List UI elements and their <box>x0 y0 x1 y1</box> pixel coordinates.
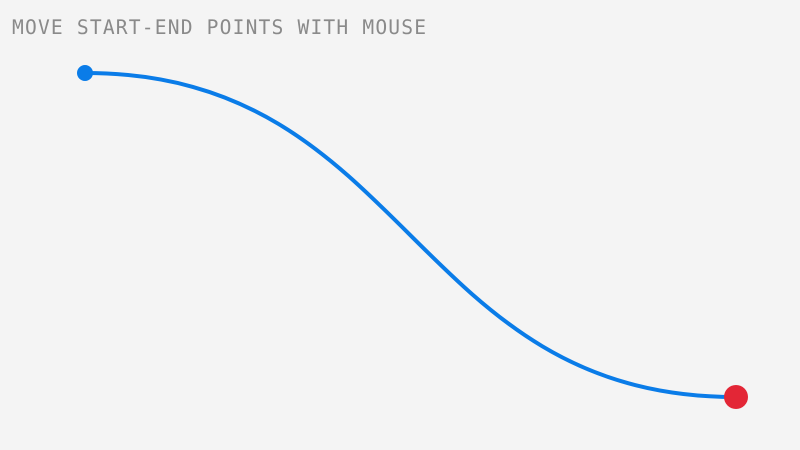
start-point-handle[interactable] <box>77 65 93 81</box>
bezier-curve-path[interactable] <box>85 73 736 397</box>
curve-svg <box>0 0 800 450</box>
bezier-editor-canvas[interactable]: MOVE START-END POINTS WITH MOUSE <box>0 0 800 450</box>
end-point-handle[interactable] <box>724 385 748 409</box>
